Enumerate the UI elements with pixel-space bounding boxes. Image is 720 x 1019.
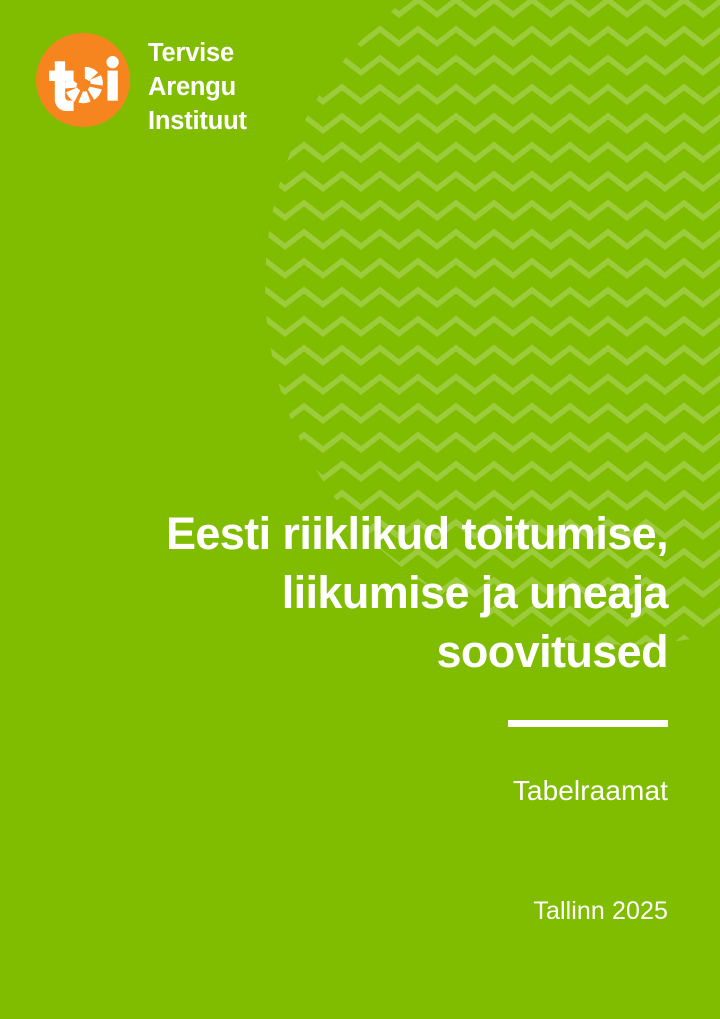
logo-lockup: Tervise Arengu Instituut	[36, 33, 247, 139]
title-line-3: soovitused	[436, 626, 668, 677]
organisation-line-3: Instituut	[148, 105, 247, 139]
organisation-line-2: Arengu	[148, 71, 247, 105]
tai-logo-icon	[36, 33, 130, 127]
page-title: Eesti riiklikud toitumise, liikumise ja …	[28, 505, 668, 682]
organisation-name: Tervise Arengu Instituut	[148, 37, 247, 139]
title-line-1: Eesti riiklikud toitumise,	[166, 508, 668, 559]
organisation-line-1: Tervise	[148, 37, 247, 71]
title-divider-rule	[508, 720, 668, 727]
title-area: Eesti riiklikud toitumise, liikumise ja …	[28, 505, 668, 807]
subtitle: Tabelraamat	[28, 775, 668, 807]
document-cover: Tervise Arengu Instituut Eesti riiklikud…	[0, 0, 720, 1019]
title-line-2: liikumise ja uneaja	[282, 567, 668, 618]
imprint-place-year: Tallinn 2025	[28, 897, 668, 926]
